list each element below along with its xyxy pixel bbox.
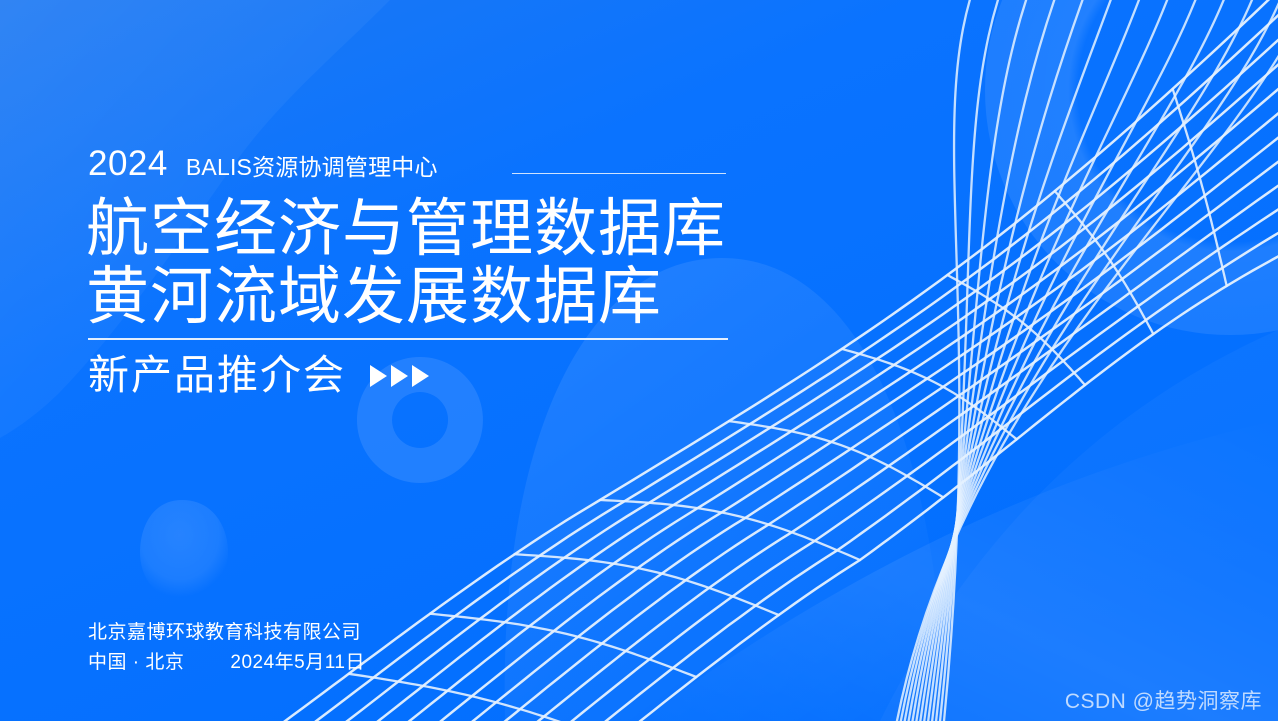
- poster-canvas: 2024 BALIS资源协调管理中心 航空经济与管理数据库 黄河流域发展数据库 …: [0, 0, 1278, 721]
- background-decoration: [0, 0, 1278, 721]
